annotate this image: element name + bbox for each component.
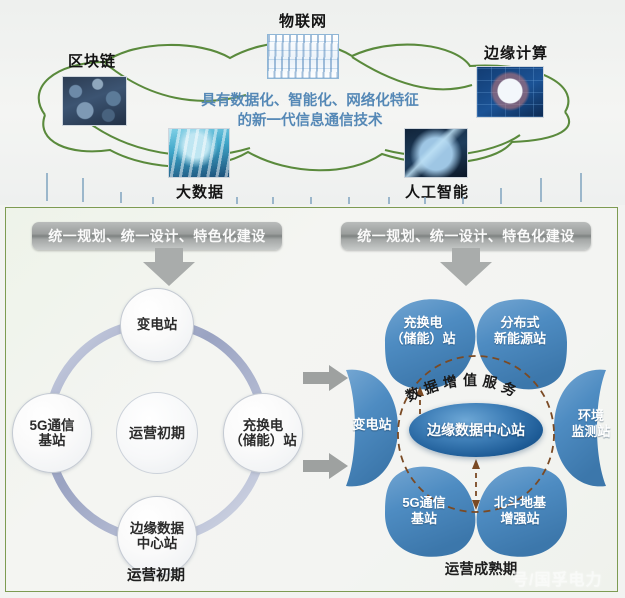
- left-header-pill: 统一规划、统一设计、特色化建设: [32, 222, 282, 250]
- petal-substation[interactable]: 变电站: [342, 413, 402, 437]
- rain-dash: [388, 197, 390, 204]
- watermark-text: 号/国孚电力: [512, 566, 602, 590]
- rain-dash: [500, 188, 502, 204]
- edge-data-center-core[interactable]: 边缘数据中心站: [409, 403, 543, 457]
- arc-char-6: 务: [498, 377, 519, 401]
- left-node-charging-storage-label: 充换电 （储能）站: [229, 418, 297, 448]
- rain-dash: [580, 173, 582, 202]
- rain-dash: [348, 197, 350, 204]
- petal-environment-monitoring-label: 环境 监测站: [571, 408, 610, 440]
- cloud-caption-line-1: 具有数据化、智能化、网络化特征: [190, 91, 430, 111]
- petal-beidou-ground-augmentation-label: 北斗地基 增强站: [494, 495, 546, 527]
- left-down-arrow: [141, 248, 197, 288]
- cloud-caption-line-2: 的新一代信息通信技术: [190, 111, 430, 131]
- arc-char-5: 服: [481, 371, 499, 393]
- petal-5g-base-station-label: 5G通信 基站: [402, 495, 445, 527]
- arc-char-4: 值: [463, 370, 477, 390]
- left-center-label: 运营初期: [129, 423, 185, 443]
- petal-distributed-new-energy-label: 分布式 新能源站: [494, 315, 546, 347]
- left-center-circle: 运营初期: [116, 392, 198, 474]
- left-node-edge-data-center-label: 边缘数据 中心站: [130, 521, 184, 551]
- tech-label-iot: 物联网: [263, 10, 343, 31]
- petal-beidou-ground-augmentation[interactable]: 北斗地基 增强站: [474, 493, 566, 529]
- deployment-panel: 统一规划、统一设计、特色化建设 变电站 充换电 （储能）站 边缘: [5, 207, 618, 592]
- rain-dash: [462, 197, 464, 204]
- rain-dash: [272, 197, 274, 204]
- arc-char-2: 据: [421, 375, 441, 398]
- left-node-substation-label: 变电站: [137, 317, 178, 333]
- petal-substation-label: 变电站: [352, 417, 391, 433]
- edge-computing-thumbnail: [476, 66, 544, 118]
- petal-charging-storage[interactable]: 充换电 （储能）站: [378, 313, 468, 349]
- petal-environment-monitoring[interactable]: 环境 监测站: [562, 404, 620, 444]
- tech-label-edge-computing: 边缘计算: [466, 42, 566, 63]
- artificial-intelligence-thumbnail: [404, 128, 468, 178]
- tech-label-blockchain: 区块链: [52, 50, 132, 71]
- arc-char-3: 增: [441, 371, 458, 393]
- rain-dash: [82, 178, 84, 202]
- rain-dash: [424, 197, 426, 204]
- data-value-added-service-arc-label: 数 据 增 值 服 务: [406, 370, 556, 400]
- left-phase-label: 运营初期: [111, 564, 201, 585]
- left-node-5g-base-station[interactable]: 5G通信 基站: [12, 393, 92, 473]
- right-header-pill: 统一规划、统一设计、特色化建设: [341, 222, 591, 250]
- iot-thumbnail: [267, 34, 339, 79]
- tech-label-artificial-intelligence: 人工智能: [398, 181, 476, 202]
- left-node-5g-base-station-label: 5G通信 基站: [29, 418, 74, 448]
- technology-cloud-section: 区块链 物联网 边缘计算 大数据 人工智能 具有数据化、智能化、网络化特征 的新…: [0, 0, 625, 205]
- tech-label-big-data: 大数据: [169, 181, 231, 202]
- rain-dash: [540, 178, 542, 202]
- rain-dash: [310, 197, 312, 204]
- big-data-thumbnail: [168, 128, 230, 178]
- edge-data-center-core-label: 边缘数据中心站: [427, 420, 525, 440]
- rain-dash: [152, 197, 154, 204]
- rain-dash: [120, 192, 122, 203]
- petal-5g-base-station[interactable]: 5G通信 基站: [380, 493, 468, 529]
- cloud-inner-arc-right: [352, 57, 472, 89]
- rain-dash: [46, 173, 48, 201]
- blockchain-thumbnail: [62, 76, 127, 126]
- right-down-arrow: [438, 248, 494, 288]
- left-node-substation[interactable]: 变电站: [120, 288, 194, 362]
- rain-dash: [236, 197, 238, 204]
- petal-distributed-new-energy[interactable]: 分布式 新能源站: [474, 313, 566, 349]
- left-node-charging-storage[interactable]: 充换电 （储能）站: [223, 393, 303, 473]
- petal-charging-storage-label: 充换电 （储能）站: [390, 315, 455, 347]
